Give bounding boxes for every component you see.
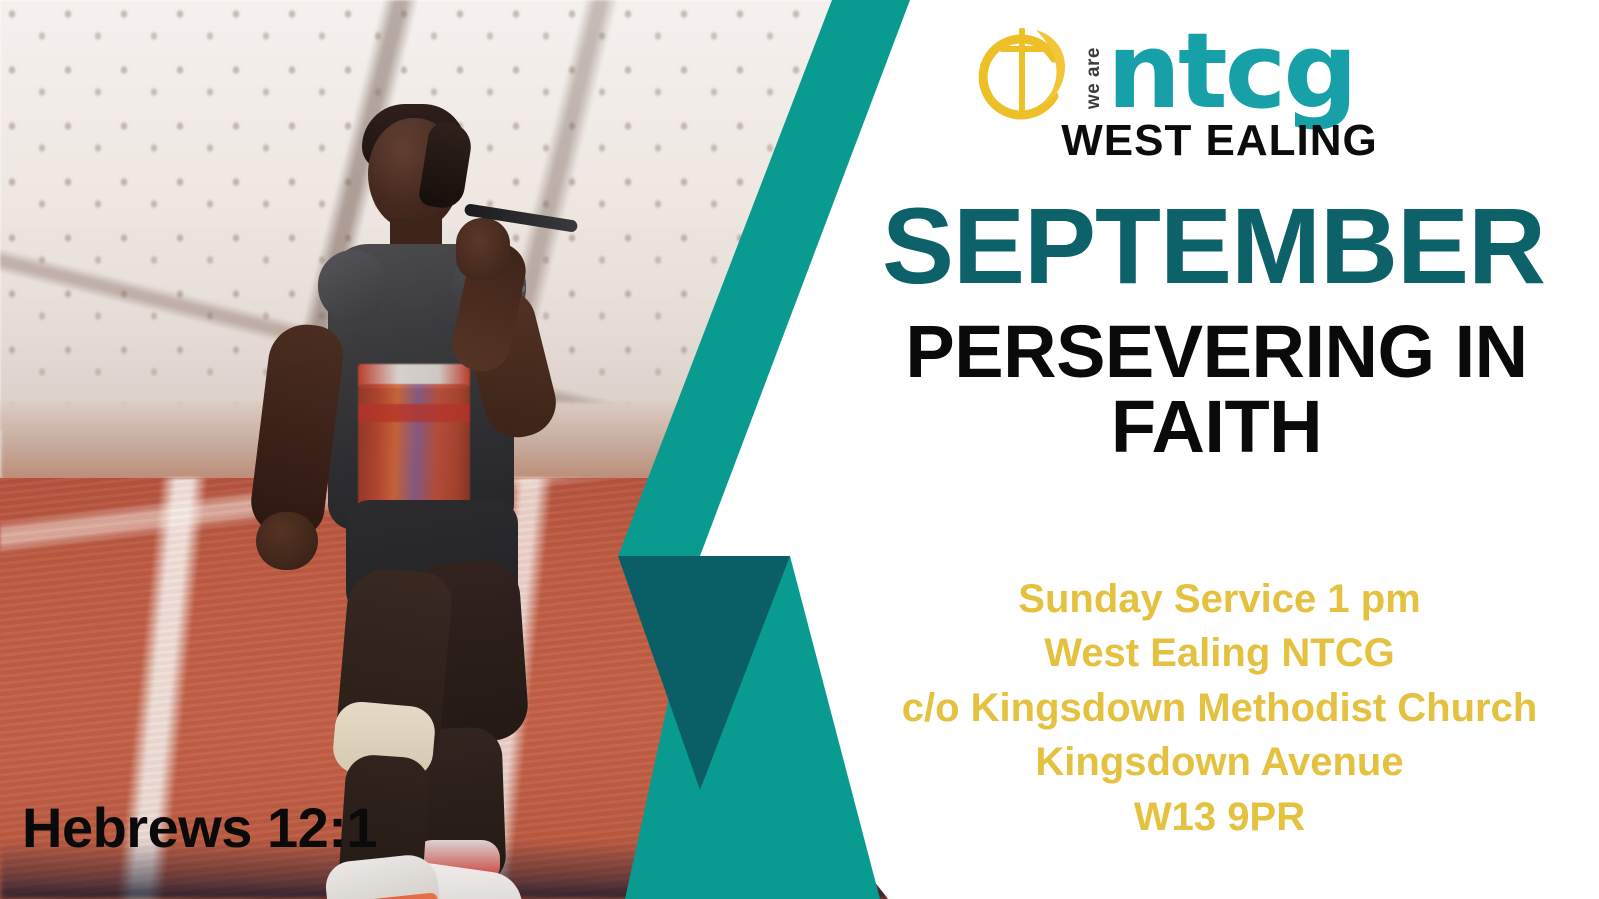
sprinter-left-fist — [256, 512, 318, 570]
cross-flame-circle-icon — [970, 18, 1080, 126]
month-heading: SEPTEMBER — [826, 192, 1599, 300]
logo-wordmark: ntcg — [1107, 28, 1355, 115]
logo-we-are-text: we are — [1084, 47, 1103, 109]
detail-line-street: Kingsdown Avenue — [840, 735, 1599, 789]
detail-line-church-name: West Ealing NTCG — [840, 626, 1599, 680]
scripture-reference: Hebrews 12:1 — [22, 800, 377, 856]
sprinter-left-shoulder — [318, 250, 388, 322]
shirt-graphic-print — [358, 384, 470, 514]
theme-heading: PERSEVERING IN FAITH — [834, 314, 1599, 465]
sprinter-figure — [238, 92, 568, 882]
detail-line-service-time: Sunday Service 1 pm — [840, 572, 1599, 626]
theme-line-2: FAITH — [834, 389, 1599, 464]
sprinter-right-hand — [456, 218, 510, 280]
runner-photograph — [0, 0, 900, 899]
content-column: we are ntcg WEST EALING SEPTEMBER PERSEV… — [840, 0, 1599, 899]
theme-line-1: PERSEVERING IN — [834, 314, 1599, 389]
logo-location-label: WEST EALING — [840, 116, 1599, 166]
ntcg-logo-block: we are ntcg WEST EALING — [840, 8, 1599, 168]
logo-lockup: we are ntcg — [970, 18, 1355, 126]
flyer-canvas: Hebrews 12:1 we are — [0, 0, 1599, 899]
detail-line-venue: c/o Kingsdown Methodist Church — [840, 681, 1599, 735]
detail-line-postcode: W13 9PR — [840, 790, 1599, 844]
service-details-block: Sunday Service 1 pm West Ealing NTCG c/o… — [840, 572, 1599, 844]
